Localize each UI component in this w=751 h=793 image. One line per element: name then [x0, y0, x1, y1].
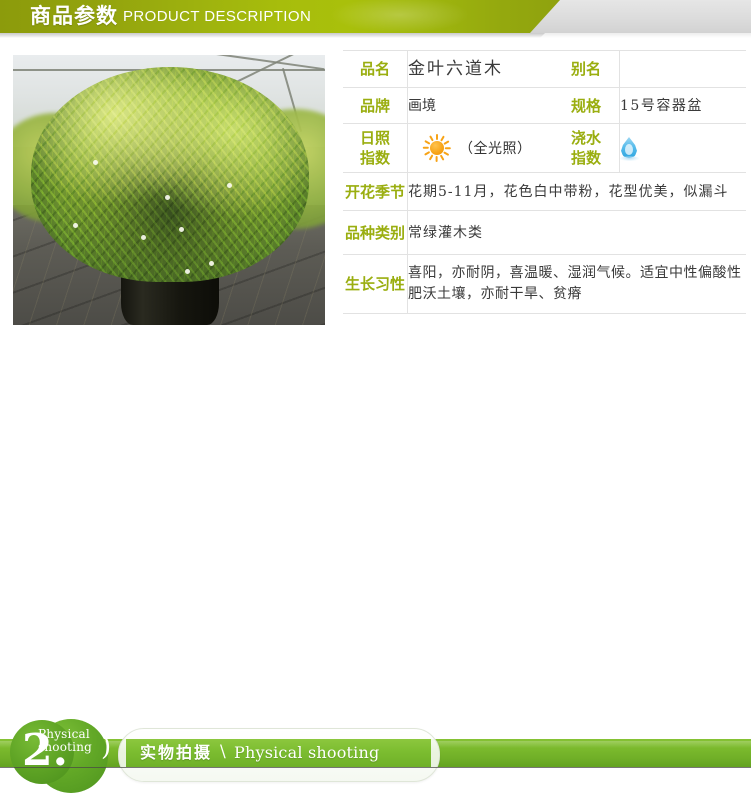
table-row: 品牌 画境 规格 15号容器盆 — [343, 88, 746, 124]
spec-label-sunshine-index: 日照 指数 — [343, 124, 408, 173]
spec-value-growth-habit: 喜阳，亦耐阴，喜温暖、湿润气候。适宜中性偏酸性肥沃土壤，亦耐干旱、贫瘠 — [408, 255, 747, 314]
spec-label-watering-index: 浇水 指数 — [553, 124, 620, 173]
water-drop-icon — [620, 135, 639, 161]
photo-blossom — [179, 227, 184, 232]
page-title-en: PRODUCT DESCRIPTION — [123, 8, 311, 26]
spec-value-brand: 画境 — [408, 88, 554, 124]
spec-label-watering-line2: 指数 — [553, 148, 619, 168]
water-drop-reflection — [620, 156, 639, 161]
banner-label-en: Physical shooting — [234, 742, 379, 764]
table-row: 生长习性 喜阳，亦耐阴，喜温暖、湿润气候。适宜中性偏酸性肥沃土壤，亦耐干旱、贫瘠 — [343, 255, 746, 314]
spec-label-sunshine-line1: 日照 — [343, 128, 407, 148]
spec-label-specification: 规格 — [553, 88, 620, 124]
banner-slash-separator: \ — [220, 741, 226, 764]
banner-badge-paren: ) — [101, 733, 111, 761]
table-row: 开花季节 花期5-11月，花色白中带粉，花型优美，似漏斗 — [343, 173, 746, 211]
photo-blossom — [93, 160, 98, 165]
spec-label-bloom-season: 开花季节 — [343, 173, 408, 211]
spec-value-specification: 15号容器盆 — [620, 88, 747, 124]
spec-label-sunshine-line2: 指数 — [343, 148, 407, 168]
table-row: 日照 指数 — [343, 124, 746, 173]
spec-value-bloom-season: 花期5-11月，花色白中带粉，花型优美，似漏斗 — [408, 173, 747, 211]
banner-label-cn: 实物拍摄 — [140, 742, 212, 764]
sun-icon — [422, 133, 452, 163]
water-drop-highlight — [625, 144, 633, 155]
spec-value-variety-category: 常绿灌木类 — [408, 211, 747, 255]
photo-foliage-texture — [31, 67, 309, 282]
photo-blossom — [73, 223, 78, 228]
page-title-cn: 商品参数 — [30, 3, 118, 30]
spec-value-sunshine-index: （全光照） — [408, 124, 554, 173]
photo-blossom — [227, 183, 232, 188]
product-photo — [13, 55, 325, 325]
spec-label-alias: 别名 — [553, 51, 620, 88]
page-header-banner: 商品参数 PRODUCT DESCRIPTION — [0, 0, 751, 38]
spec-value-product-name: 金叶六道木 — [408, 51, 554, 88]
photo-blossom — [209, 261, 214, 266]
product-spec-table: 品名 金叶六道木 别名 品牌 画境 规格 15号容器盆 日照 指数 — [343, 50, 746, 314]
photo-blossom — [141, 235, 146, 240]
spec-value-alias — [620, 51, 747, 88]
sun-core — [430, 141, 444, 155]
spec-label-watering-line1: 浇水 — [553, 128, 619, 148]
spec-label-variety-category: 品种类别 — [343, 211, 408, 255]
table-row: 品种类别 常绿灌木类 — [343, 211, 746, 255]
photo-blossom — [185, 269, 190, 274]
header-green-shadow — [0, 33, 545, 38]
table-row: 品名 金叶六道木 别名 — [343, 51, 746, 88]
banner-underline — [0, 767, 751, 768]
header-gloss-highlight — [330, 0, 470, 33]
spec-label-growth-habit: 生长习性 — [343, 255, 408, 314]
spec-label-brand: 品牌 — [343, 88, 408, 124]
spec-value-watering-index — [620, 124, 747, 173]
physical-shooting-banner: 实物拍摄 \ Physical shooting 2. Physical sho… — [0, 358, 751, 437]
spec-label-product-name: 品名 — [343, 51, 408, 88]
spec-value-sunshine-text: （全光照） — [459, 138, 532, 158]
photo-blossom — [165, 195, 170, 200]
